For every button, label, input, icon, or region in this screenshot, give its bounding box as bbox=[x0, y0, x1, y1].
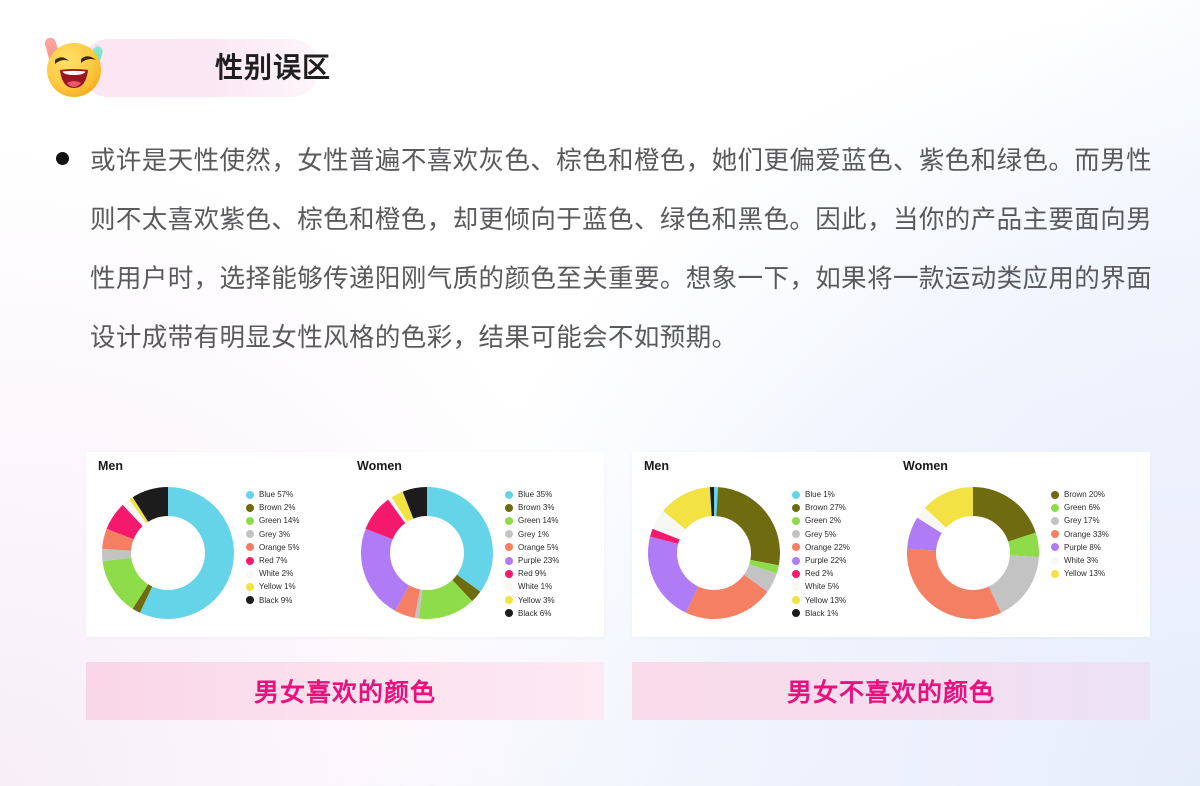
legend-item: White 1% bbox=[505, 580, 601, 593]
legend-label: Grey 17% bbox=[1064, 516, 1100, 525]
legend-swatch-icon bbox=[792, 570, 800, 578]
legend-swatch-icon bbox=[792, 557, 800, 565]
legend-swatch-icon bbox=[505, 491, 513, 499]
legend-item: Black 9% bbox=[246, 594, 342, 607]
legend-swatch-icon bbox=[792, 517, 800, 525]
legend-item: Blue 35% bbox=[505, 488, 601, 501]
legend-swatch-icon bbox=[792, 596, 800, 604]
legend-swatch-icon bbox=[792, 491, 800, 499]
legend-item: Blue 57% bbox=[246, 488, 342, 501]
legend-label: Grey 3% bbox=[259, 530, 290, 539]
legend-label: Red 2% bbox=[805, 569, 833, 578]
chart-women-disliked: Women Brown 20%Green 6%Grey 17%Orange 33… bbox=[891, 452, 1150, 637]
body-block: 或许是天性使然，女性普遍不喜欢灰色、棕色和橙色，她们更偏爱蓝色、紫色和绿色。而男… bbox=[52, 132, 1152, 368]
legend-item: Red 9% bbox=[505, 567, 601, 580]
legend-item: Red 7% bbox=[246, 554, 342, 567]
donut-chart bbox=[899, 479, 1047, 627]
chart-legend: Blue 35%Brown 3%Green 14%Grey 1%Orange 5… bbox=[505, 488, 601, 620]
legend-item: Yellow 13% bbox=[792, 594, 888, 607]
legend-swatch-icon bbox=[246, 557, 254, 565]
legend-swatch-icon bbox=[505, 517, 513, 525]
legend-swatch-icon bbox=[246, 504, 254, 512]
legend-item: Purple 22% bbox=[792, 554, 888, 567]
legend-swatch-icon bbox=[505, 583, 513, 591]
chart-legend: Blue 57%Brown 2%Green 14%Grey 3%Orange 5… bbox=[246, 488, 342, 607]
legend-label: Orange 33% bbox=[1064, 530, 1109, 539]
legend-item: Orange 5% bbox=[505, 541, 601, 554]
legend-swatch-icon bbox=[792, 543, 800, 551]
legend-item: Yellow 1% bbox=[246, 580, 342, 593]
legend-item: Brown 20% bbox=[1051, 488, 1147, 501]
legend-label: Brown 2% bbox=[259, 503, 295, 512]
legend-swatch-icon bbox=[246, 570, 254, 578]
page-header: 性别误区 bbox=[36, 34, 331, 102]
legend-swatch-icon bbox=[1051, 517, 1059, 525]
legend-item: Yellow 13% bbox=[1051, 567, 1147, 580]
legend-item: Brown 2% bbox=[246, 501, 342, 514]
legend-swatch-icon bbox=[1051, 557, 1059, 565]
legend-label: Yellow 13% bbox=[1064, 569, 1105, 578]
legend-swatch-icon bbox=[246, 583, 254, 591]
chart-legend: Blue 1%Brown 27%Green 2%Grey 5%Orange 22… bbox=[792, 488, 888, 620]
legend-label: Blue 57% bbox=[259, 490, 293, 499]
legend-label: Grey 1% bbox=[518, 530, 549, 539]
legend-label: White 5% bbox=[805, 582, 839, 591]
caption-bar-liked: 男女喜欢的颜色 bbox=[86, 662, 604, 720]
legend-swatch-icon bbox=[505, 557, 513, 565]
legend-swatch-icon bbox=[246, 517, 254, 525]
legend-swatch-icon bbox=[1051, 504, 1059, 512]
legend-label: Yellow 13% bbox=[805, 596, 846, 605]
legend-label: Purple 23% bbox=[518, 556, 559, 565]
body-paragraph: 或许是天性使然，女性普遍不喜欢灰色、棕色和橙色，她们更偏爱蓝色、紫色和绿色。而男… bbox=[90, 132, 1152, 368]
legend-item: White 3% bbox=[1051, 554, 1147, 567]
legend-label: Orange 5% bbox=[259, 543, 299, 552]
legend-label: Yellow 3% bbox=[518, 596, 555, 605]
donut-slice bbox=[973, 487, 1036, 542]
legend-swatch-icon bbox=[246, 596, 254, 604]
legend-swatch-icon bbox=[505, 570, 513, 578]
chart-panel-liked: Men Blue 57%Brown 2%Green 14%Grey 3%Oran… bbox=[86, 452, 604, 637]
legend-item: Green 6% bbox=[1051, 501, 1147, 514]
legend-swatch-icon bbox=[505, 543, 513, 551]
legend-swatch-icon bbox=[1051, 491, 1059, 499]
legend-label: Black 9% bbox=[259, 596, 292, 605]
legend-label: Brown 20% bbox=[1064, 490, 1105, 499]
legend-item: Red 2% bbox=[792, 567, 888, 580]
chart-panel-disliked: Men Blue 1%Brown 27%Green 2%Grey 5%Orang… bbox=[632, 452, 1150, 637]
page-title: 性别误区 bbox=[215, 34, 331, 102]
donut-chart bbox=[640, 479, 788, 627]
chart-title: Men bbox=[98, 459, 123, 473]
legend-swatch-icon bbox=[246, 543, 254, 551]
legend-swatch-icon bbox=[505, 530, 513, 538]
legend-item: Orange 33% bbox=[1051, 528, 1147, 541]
bullet-point-icon bbox=[56, 152, 69, 165]
legend-item: Black 1% bbox=[792, 607, 888, 620]
caption-label: 男女喜欢的颜色 bbox=[254, 673, 436, 709]
chart-legend: Brown 20%Green 6%Grey 17%Orange 33%Purpl… bbox=[1051, 488, 1147, 580]
legend-item: Blue 1% bbox=[792, 488, 888, 501]
legend-label: White 1% bbox=[518, 582, 552, 591]
donut-chart bbox=[94, 479, 242, 627]
legend-swatch-icon bbox=[1051, 570, 1059, 578]
legend-item: Orange 5% bbox=[246, 541, 342, 554]
chart-title: Women bbox=[903, 459, 948, 473]
legend-label: Yellow 1% bbox=[259, 582, 296, 591]
legend-label: White 3% bbox=[1064, 556, 1098, 565]
legend-swatch-icon bbox=[505, 609, 513, 617]
chart-women-liked: Women Blue 35%Brown 3%Green 14%Grey 1%Or… bbox=[345, 452, 604, 637]
legend-label: White 2% bbox=[259, 569, 293, 578]
legend-label: Green 2% bbox=[805, 516, 841, 525]
legend-label: Blue 1% bbox=[805, 490, 835, 499]
legend-label: Green 6% bbox=[1064, 503, 1100, 512]
legend-item: Orange 22% bbox=[792, 541, 888, 554]
donut-slice bbox=[361, 529, 409, 611]
legend-swatch-icon bbox=[1051, 543, 1059, 551]
caption-label: 男女不喜欢的颜色 bbox=[787, 673, 995, 709]
legend-label: Green 14% bbox=[518, 516, 558, 525]
legend-item: Green 14% bbox=[246, 514, 342, 527]
legend-label: Orange 5% bbox=[518, 543, 558, 552]
legend-item: Yellow 3% bbox=[505, 594, 601, 607]
legend-swatch-icon bbox=[505, 504, 513, 512]
legend-label: Black 6% bbox=[518, 609, 551, 618]
legend-label: Red 9% bbox=[518, 569, 546, 578]
rolling-on-floor-laughing-emoji-icon bbox=[36, 34, 112, 102]
chart-title: Men bbox=[644, 459, 669, 473]
legend-item: Grey 17% bbox=[1051, 514, 1147, 527]
legend-label: Brown 3% bbox=[518, 503, 554, 512]
chart-title: Women bbox=[357, 459, 402, 473]
legend-swatch-icon bbox=[505, 596, 513, 604]
legend-swatch-icon bbox=[246, 491, 254, 499]
legend-item: Brown 3% bbox=[505, 501, 601, 514]
donut-chart bbox=[353, 479, 501, 627]
chart-men-liked: Men Blue 57%Brown 2%Green 14%Grey 3%Oran… bbox=[86, 452, 345, 637]
legend-label: Brown 27% bbox=[805, 503, 846, 512]
legend-item: Grey 1% bbox=[505, 528, 601, 541]
legend-item: Grey 3% bbox=[246, 528, 342, 541]
legend-item: Green 14% bbox=[505, 514, 601, 527]
donut-slice bbox=[427, 487, 493, 592]
legend-item: Purple 23% bbox=[505, 554, 601, 567]
legend-swatch-icon bbox=[792, 530, 800, 538]
donut-slice bbox=[648, 537, 698, 613]
legend-item: Brown 27% bbox=[792, 501, 888, 514]
legend-label: Purple 22% bbox=[805, 556, 846, 565]
legend-item: Green 2% bbox=[792, 514, 888, 527]
donut-slice bbox=[716, 487, 780, 565]
legend-swatch-icon bbox=[246, 530, 254, 538]
legend-item: Purple 8% bbox=[1051, 541, 1147, 554]
legend-item: White 5% bbox=[792, 580, 888, 593]
legend-item: Black 6% bbox=[505, 607, 601, 620]
legend-label: Black 1% bbox=[805, 609, 838, 618]
donut-slice bbox=[907, 549, 1001, 619]
legend-label: Purple 8% bbox=[1064, 543, 1101, 552]
legend-swatch-icon bbox=[1051, 530, 1059, 538]
legend-label: Orange 22% bbox=[805, 543, 850, 552]
legend-swatch-icon bbox=[792, 583, 800, 591]
legend-item: Grey 5% bbox=[792, 528, 888, 541]
chart-men-disliked: Men Blue 1%Brown 27%Green 2%Grey 5%Orang… bbox=[632, 452, 891, 637]
legend-swatch-icon bbox=[792, 504, 800, 512]
legend-label: Blue 35% bbox=[518, 490, 552, 499]
legend-label: Red 7% bbox=[259, 556, 287, 565]
legend-item: White 2% bbox=[246, 567, 342, 580]
legend-label: Green 14% bbox=[259, 516, 299, 525]
legend-label: Grey 5% bbox=[805, 530, 836, 539]
legend-swatch-icon bbox=[792, 609, 800, 617]
caption-bar-disliked: 男女不喜欢的颜色 bbox=[632, 662, 1150, 720]
